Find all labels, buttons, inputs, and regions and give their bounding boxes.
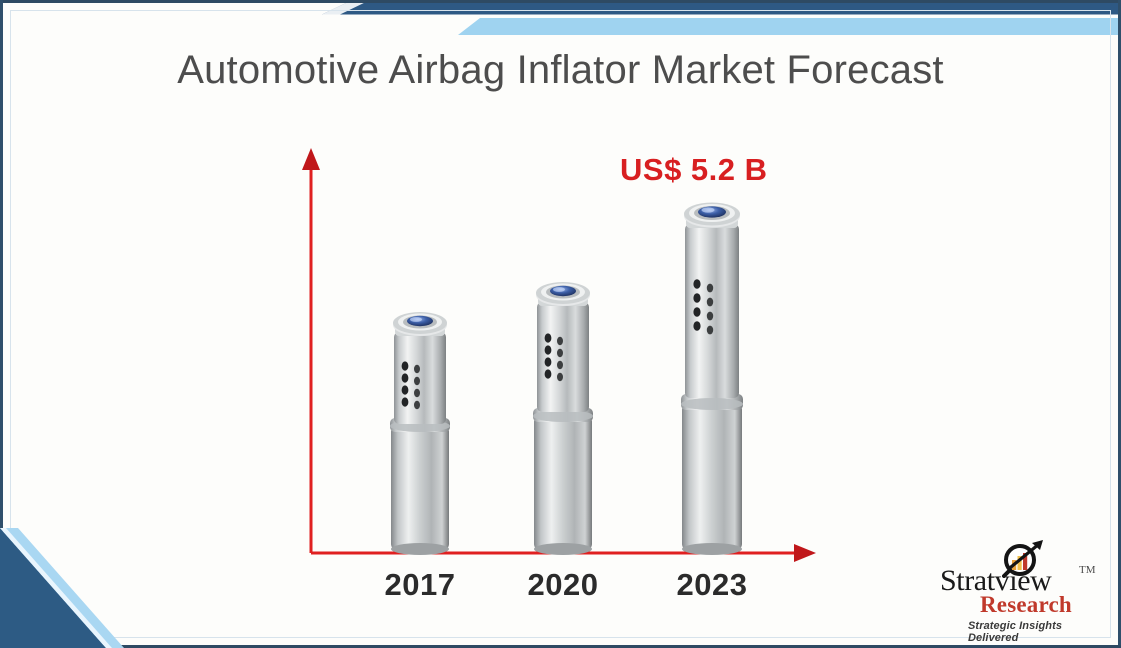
trademark-symbol: TM — [1079, 564, 1096, 576]
x-axis-label-2023: 2023 — [657, 567, 767, 603]
logo-tagline: Strategic Insights Delivered — [968, 620, 1108, 644]
bar-2017 — [381, 306, 459, 556]
frame-top-border — [0, 0, 1121, 3]
decor-corner-bottom-left — [0, 528, 200, 648]
x-axis-label-2017: 2017 — [365, 567, 475, 603]
page-title: Automotive Airbag Inflator Market Foreca… — [0, 48, 1121, 93]
brand-logo[interactable]: Stratview TM Research Strategic Insights… — [940, 538, 1108, 638]
value-callout-2023: US$ 5.2 B — [620, 152, 768, 188]
bar-2023 — [672, 196, 752, 556]
logo-wordmark-secondary: Research — [980, 592, 1072, 618]
x-axis-label-2020: 2020 — [508, 567, 618, 603]
infographic-slide: Automotive Airbag Inflator Market Foreca… — [0, 0, 1121, 648]
bar-2020 — [524, 276, 602, 556]
